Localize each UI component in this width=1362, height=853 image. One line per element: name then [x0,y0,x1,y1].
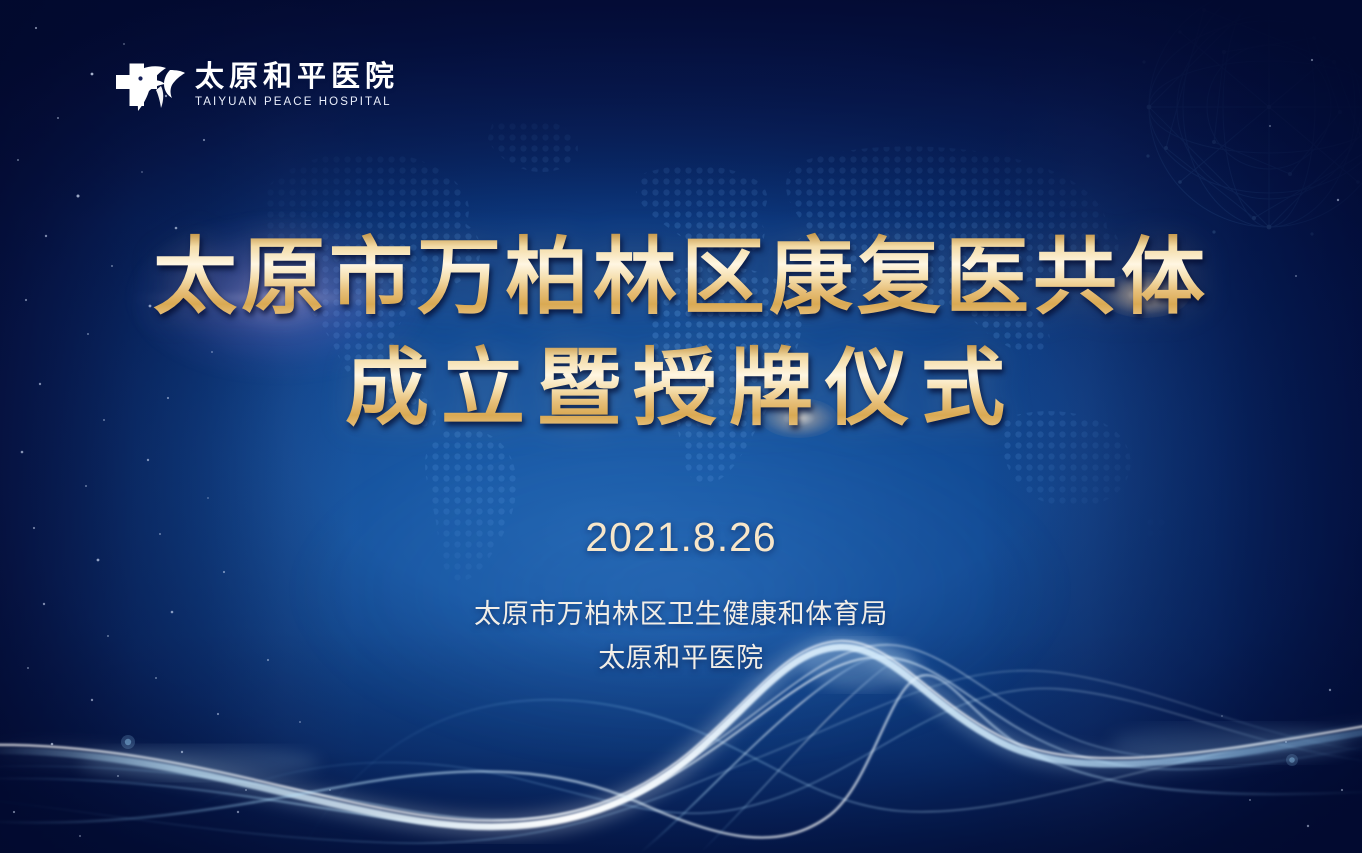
slide-title: 太原市万柏林区康复医共体 成立暨授牌仪式 [0,222,1362,444]
hospital-logo: 太原和平医院 TAIYUAN PEACE HOSPITAL [112,56,399,114]
event-date: 2021.8.26 [0,512,1362,563]
organizer-line-2: 太原和平医院 [0,637,1362,681]
title-line-2: 成立暨授牌仪式 [0,333,1362,444]
title-line-1: 太原市万柏林区康复医共体 [0,222,1362,333]
logo-name-en: TAIYUAN PEACE HOSPITAL [195,96,399,108]
slide-subtitle: 2021.8.26 太原市万柏林区卫生健康和体育局 太原和平医院 [0,512,1362,681]
logo-name-cn: 太原和平医院 [195,62,399,92]
organizer-line-1: 太原市万柏林区卫生健康和体育局 [0,593,1362,637]
hospital-cross-dove-icon [112,56,186,114]
logo-wordmark: 太原和平医院 TAIYUAN PEACE HOSPITAL [195,62,399,108]
presentation-slide: 太原和平医院 TAIYUAN PEACE HOSPITAL 太原市万柏林区康复医… [0,0,1362,853]
